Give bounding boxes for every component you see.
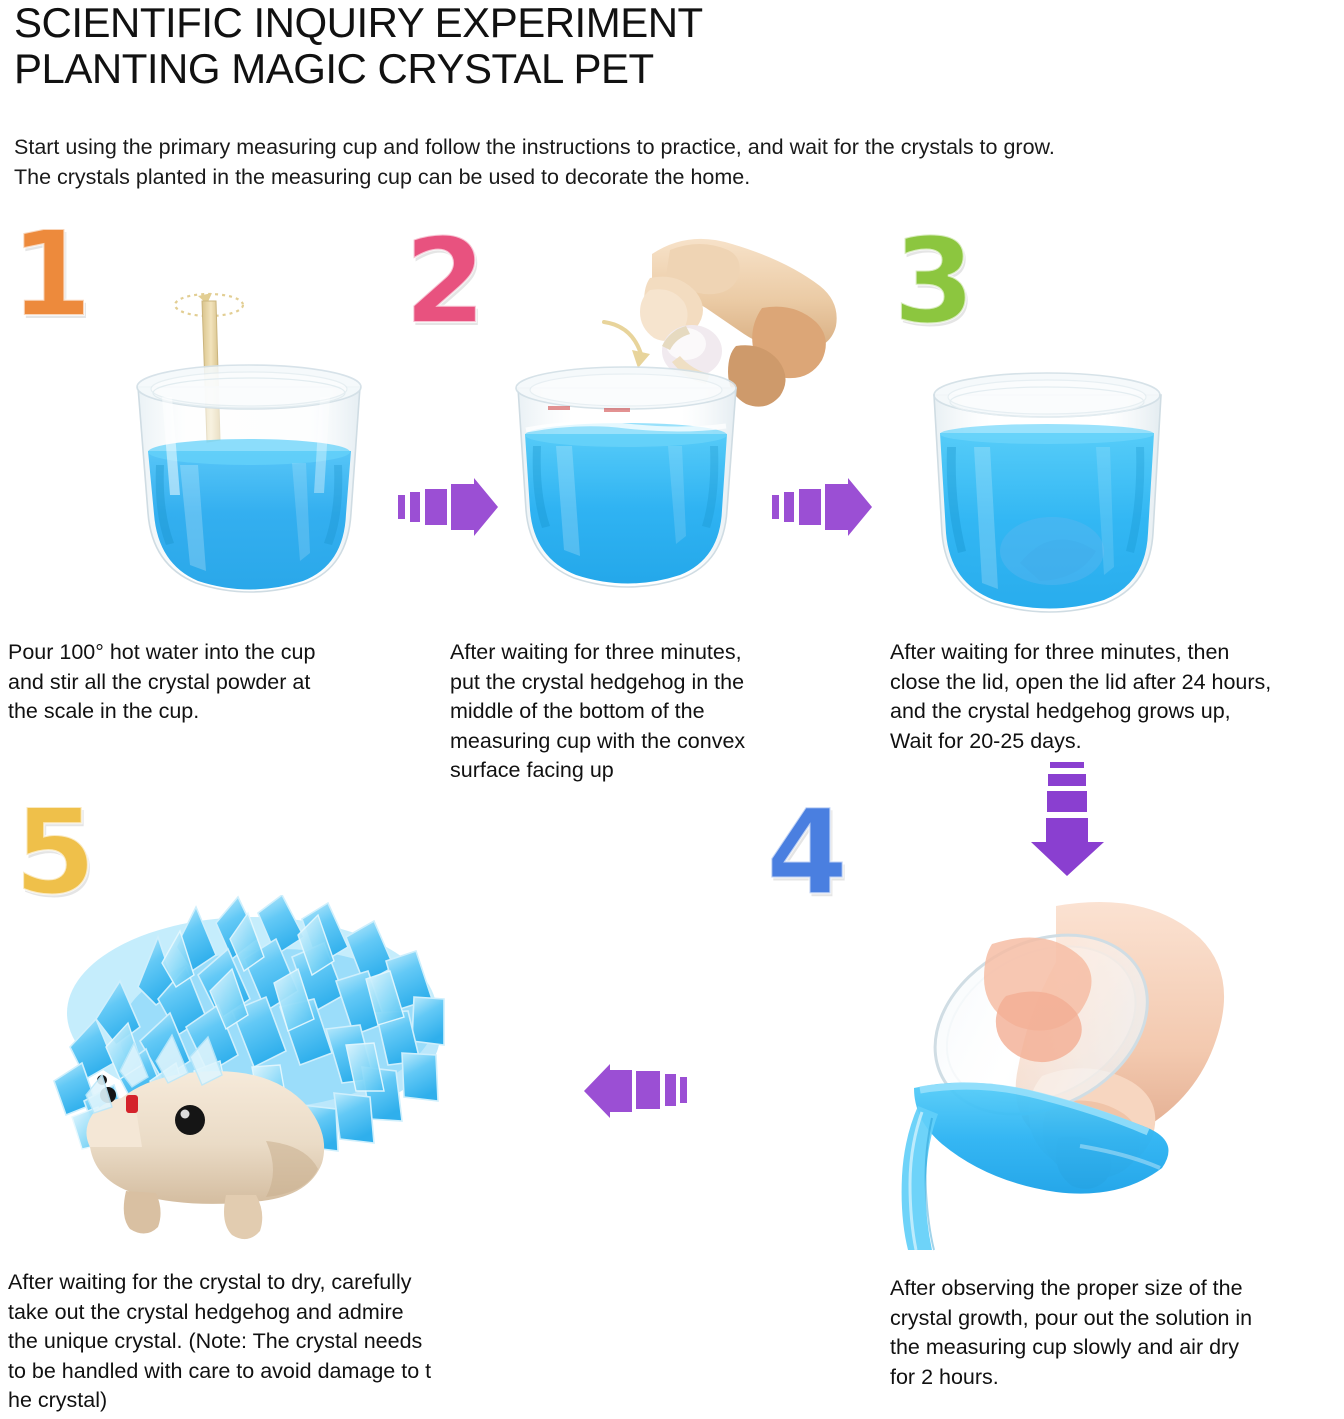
- finished-crystal-hedgehog-icon: [30, 895, 455, 1250]
- step-3-image: [920, 355, 1205, 627]
- step-4-caption-line-3: the measuring cup slowly and air dry: [890, 1333, 1344, 1363]
- step-3-caption-line-2: close the lid, open the lid after 24 hou…: [890, 668, 1344, 698]
- step-2-caption-line-3: middle of the bottom of the: [450, 697, 880, 727]
- step-number-2: 2: [404, 222, 486, 340]
- step-4-caption-line-1: After observing the proper size of the: [890, 1274, 1344, 1304]
- page-title-line-2: PLANTING MAGIC CRYSTAL PET: [14, 46, 1324, 92]
- arrow-step3-to-step4: [1026, 760, 1126, 883]
- hand-pouring-out-solution-icon: [880, 900, 1305, 1252]
- step-5-image: [30, 895, 455, 1250]
- step-5-caption-line-1: After waiting for the crystal to dry, ca…: [8, 1268, 538, 1298]
- closed-cup-with-solution-icon: [920, 355, 1205, 627]
- step-3-caption-line-3: and the crystal hedgehog grows up,: [890, 697, 1344, 727]
- arrow-step4-to-step5: [570, 1060, 690, 1127]
- step-2-caption: After waiting for three minutes, put the…: [450, 638, 880, 786]
- step-1-caption-line-1: Pour 100° hot water into the cup: [8, 638, 428, 668]
- page-title-line-1: SCIENTIFIC INQUIRY EXPERIMENT: [14, 0, 1324, 46]
- arrow-step1-to-step2: [396, 478, 500, 541]
- step-1-caption-line-3: the scale in the cup.: [8, 697, 428, 727]
- step-3-caption-line-1: After waiting for three minutes, then: [890, 638, 1344, 668]
- step-number-1: 1: [10, 215, 92, 333]
- step-2-caption-line-1: After waiting for three minutes,: [450, 638, 880, 668]
- step-5-caption-line-4: to be handled with care to avoid damage …: [8, 1357, 538, 1387]
- step-1-caption-line-2: and stir all the crystal powder at: [8, 668, 428, 698]
- step-2-caption-line-4: measuring cup with the convex: [450, 727, 880, 757]
- step-2-image: [500, 238, 845, 620]
- step-4-image: [880, 900, 1305, 1252]
- step-3-caption-line-4: Wait for 20-25 days.: [890, 727, 1344, 757]
- step-4-caption: After observing the proper size of the c…: [890, 1274, 1344, 1392]
- step-5-caption-line-5: he crystal): [8, 1386, 538, 1416]
- intro-line-1: Start using the primary measuring cup an…: [14, 132, 1334, 162]
- hand-dropping-hedgehog-into-cup-icon: [500, 238, 845, 620]
- step-1-caption: Pour 100° hot water into the cup and sti…: [8, 638, 428, 727]
- arrow-step2-to-step3: [770, 478, 874, 541]
- step-1-image: [110, 265, 390, 620]
- step-5-caption: After waiting for the crystal to dry, ca…: [8, 1268, 538, 1416]
- step-5-caption-line-3: the unique crystal. (Note: The crystal n…: [8, 1327, 538, 1357]
- step-4-caption-line-2: crystal growth, pour out the solution in: [890, 1304, 1344, 1334]
- step-2-caption-line-2: put the crystal hedgehog in the: [450, 668, 880, 698]
- step-3-caption: After waiting for three minutes, then cl…: [890, 638, 1344, 756]
- step-5-caption-line-2: take out the crystal hedgehog and admire: [8, 1298, 538, 1328]
- page-header: SCIENTIFIC INQUIRY EXPERIMENT PLANTING M…: [14, 0, 1324, 92]
- step-number-4: 4: [766, 793, 848, 911]
- arrow-down-icon: [1026, 760, 1126, 878]
- step-4-caption-line-4: for 2 hours.: [890, 1363, 1344, 1393]
- step-number-5: 5: [14, 793, 96, 911]
- step-2-caption-line-5: surface facing up: [450, 756, 880, 786]
- intro-line-2: The crystals planted in the measuring cu…: [14, 162, 1334, 192]
- step-number-3: 3: [893, 222, 975, 340]
- arrow-right-icon: [770, 478, 874, 536]
- intro-paragraph: Start using the primary measuring cup an…: [14, 132, 1334, 192]
- arrow-left-icon: [570, 1060, 690, 1122]
- arrow-right-icon: [396, 478, 500, 536]
- cup-with-stir-stick-icon: [110, 265, 390, 620]
